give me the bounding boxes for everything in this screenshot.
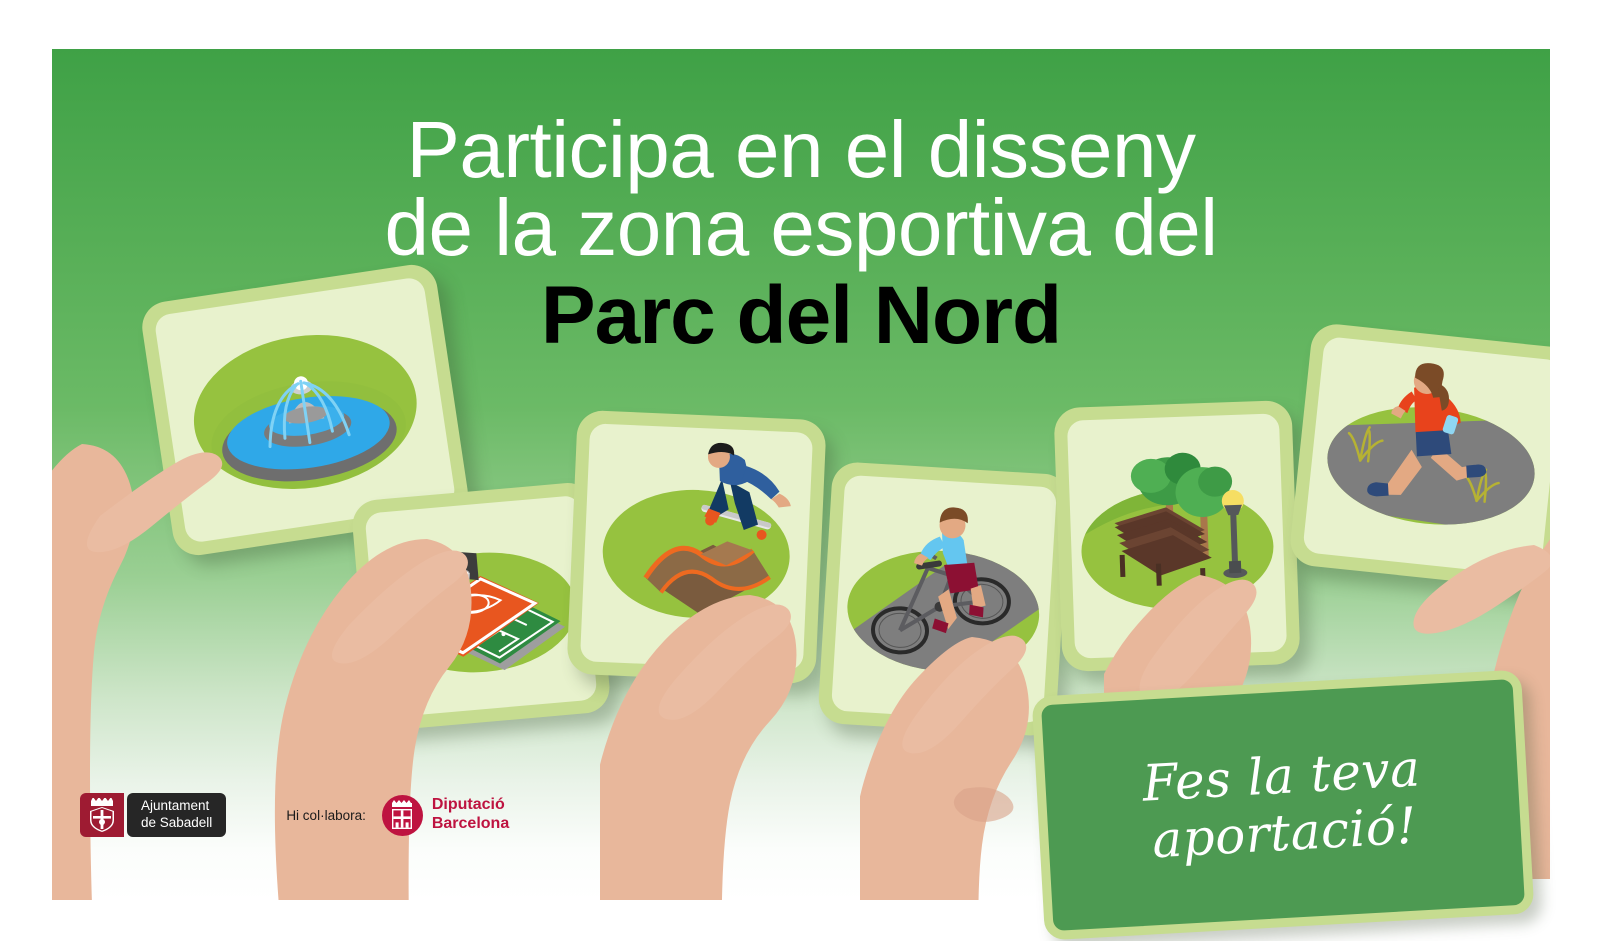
diputacio-name-block: Diputació Barcelona <box>432 796 509 834</box>
hand-pointing-card-sportcourt <box>257 529 557 900</box>
collaborator-label: Hi col·labora: <box>286 808 366 823</box>
ajuntament-de-sabadell-logo[interactable]: Ajuntament de Sabadell <box>80 793 226 837</box>
diputacio-crest-icon <box>382 795 423 836</box>
collaborator-block: Hi col·labora: Diputació <box>286 795 509 836</box>
diputacio-line-1: Diputació <box>432 796 509 815</box>
diputacio-line-2: Barcelona <box>432 815 509 834</box>
ajuntament-name-block: Ajuntament de Sabadell <box>127 793 226 837</box>
sabadell-crest-icon <box>80 793 124 837</box>
ajuntament-line-1: Ajuntament <box>141 798 212 815</box>
hand-pointing-card-skatepark <box>600 589 890 900</box>
ajuntament-line-2: de Sabadell <box>141 815 212 832</box>
call-to-action-text: Fes la teva aportació! <box>1141 740 1425 869</box>
logo-group: Ajuntament de Sabadell Hi col·labora: <box>80 793 509 837</box>
diputacio-barcelona-logo[interactable]: Diputació Barcelona <box>382 795 509 836</box>
